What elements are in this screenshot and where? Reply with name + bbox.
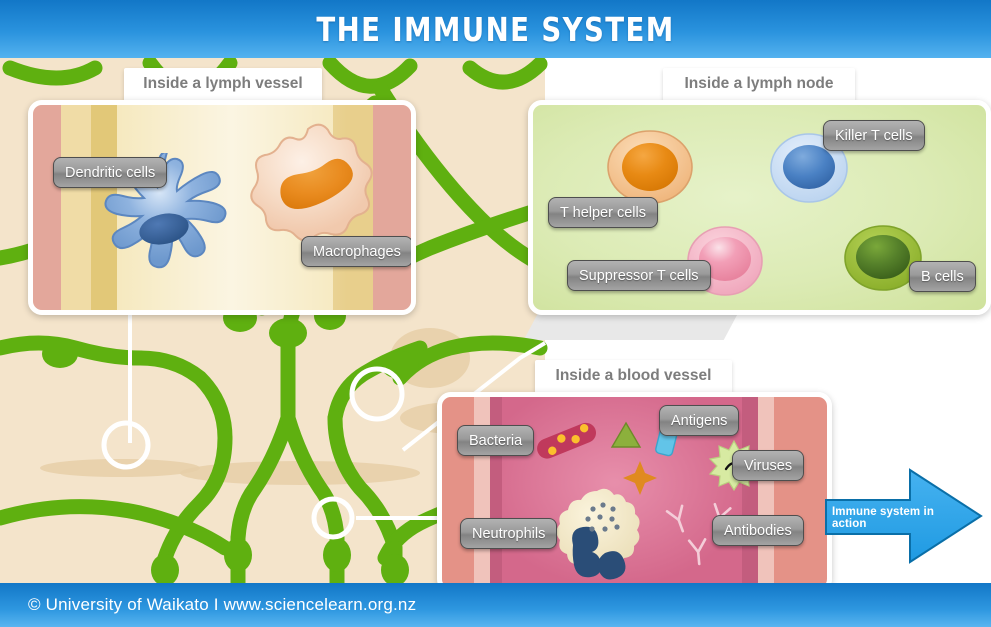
label-b-cells[interactable]: B cells [909,261,976,292]
tab-blood-vessel-label: Inside a blood vessel [556,367,712,385]
label-neutrophils[interactable]: Neutrophils [460,518,557,549]
panel-blood-vessel: Bacteria Antigens Viruses Neutrophils An… [437,392,832,593]
bacteria-illustration [526,417,606,467]
label-killer-t-cells[interactable]: Killer T cells [823,120,925,151]
immune-system-in-action-button[interactable]: Immune system in action [824,462,984,570]
antigen-triangle-icon [612,423,640,447]
label-suppressor-t-cells[interactable]: Suppressor T cells [567,260,711,291]
t-helper-cell-illustration [605,127,695,207]
neutrophil-illustration [545,487,650,587]
panel-lymph-vessel: Dendritic cells Macrophages [28,100,416,315]
label-t-helper-cells[interactable]: T helper cells [548,197,658,228]
footer-bar: © University of Waikato I www.sciencelea… [0,583,991,627]
tab-lymph-node-label: Inside a lymph node [685,75,834,93]
label-antigens[interactable]: Antigens [659,405,739,436]
infographic-canvas: THE IMMUNE SYSTEM .vess{fill:none;stroke… [0,0,991,627]
label-dendritic-cells[interactable]: Dendritic cells [53,157,167,188]
tab-lymph-node[interactable]: Inside a lymph node [663,68,855,100]
panel-lymph-node: T helper cells Killer T cells Suppressor… [528,100,991,315]
label-viruses[interactable]: Viruses [732,450,804,481]
tab-lymph-vessel[interactable]: Inside a lymph vessel [124,68,322,100]
page-title: THE IMMUNE SYSTEM [35,0,957,58]
header-bar: THE IMMUNE SYSTEM [0,0,991,58]
action-button-label: Immune system in action [832,508,960,528]
label-antibodies[interactable]: Antibodies [712,515,804,546]
tab-blood-vessel[interactable]: Inside a blood vessel [535,360,732,392]
tab-lymph-vessel-label: Inside a lymph vessel [143,75,302,93]
label-bacteria[interactable]: Bacteria [457,425,534,456]
label-macrophages[interactable]: Macrophages [301,236,413,267]
copyright-credit: © University of Waikato I www.sciencelea… [28,583,416,627]
